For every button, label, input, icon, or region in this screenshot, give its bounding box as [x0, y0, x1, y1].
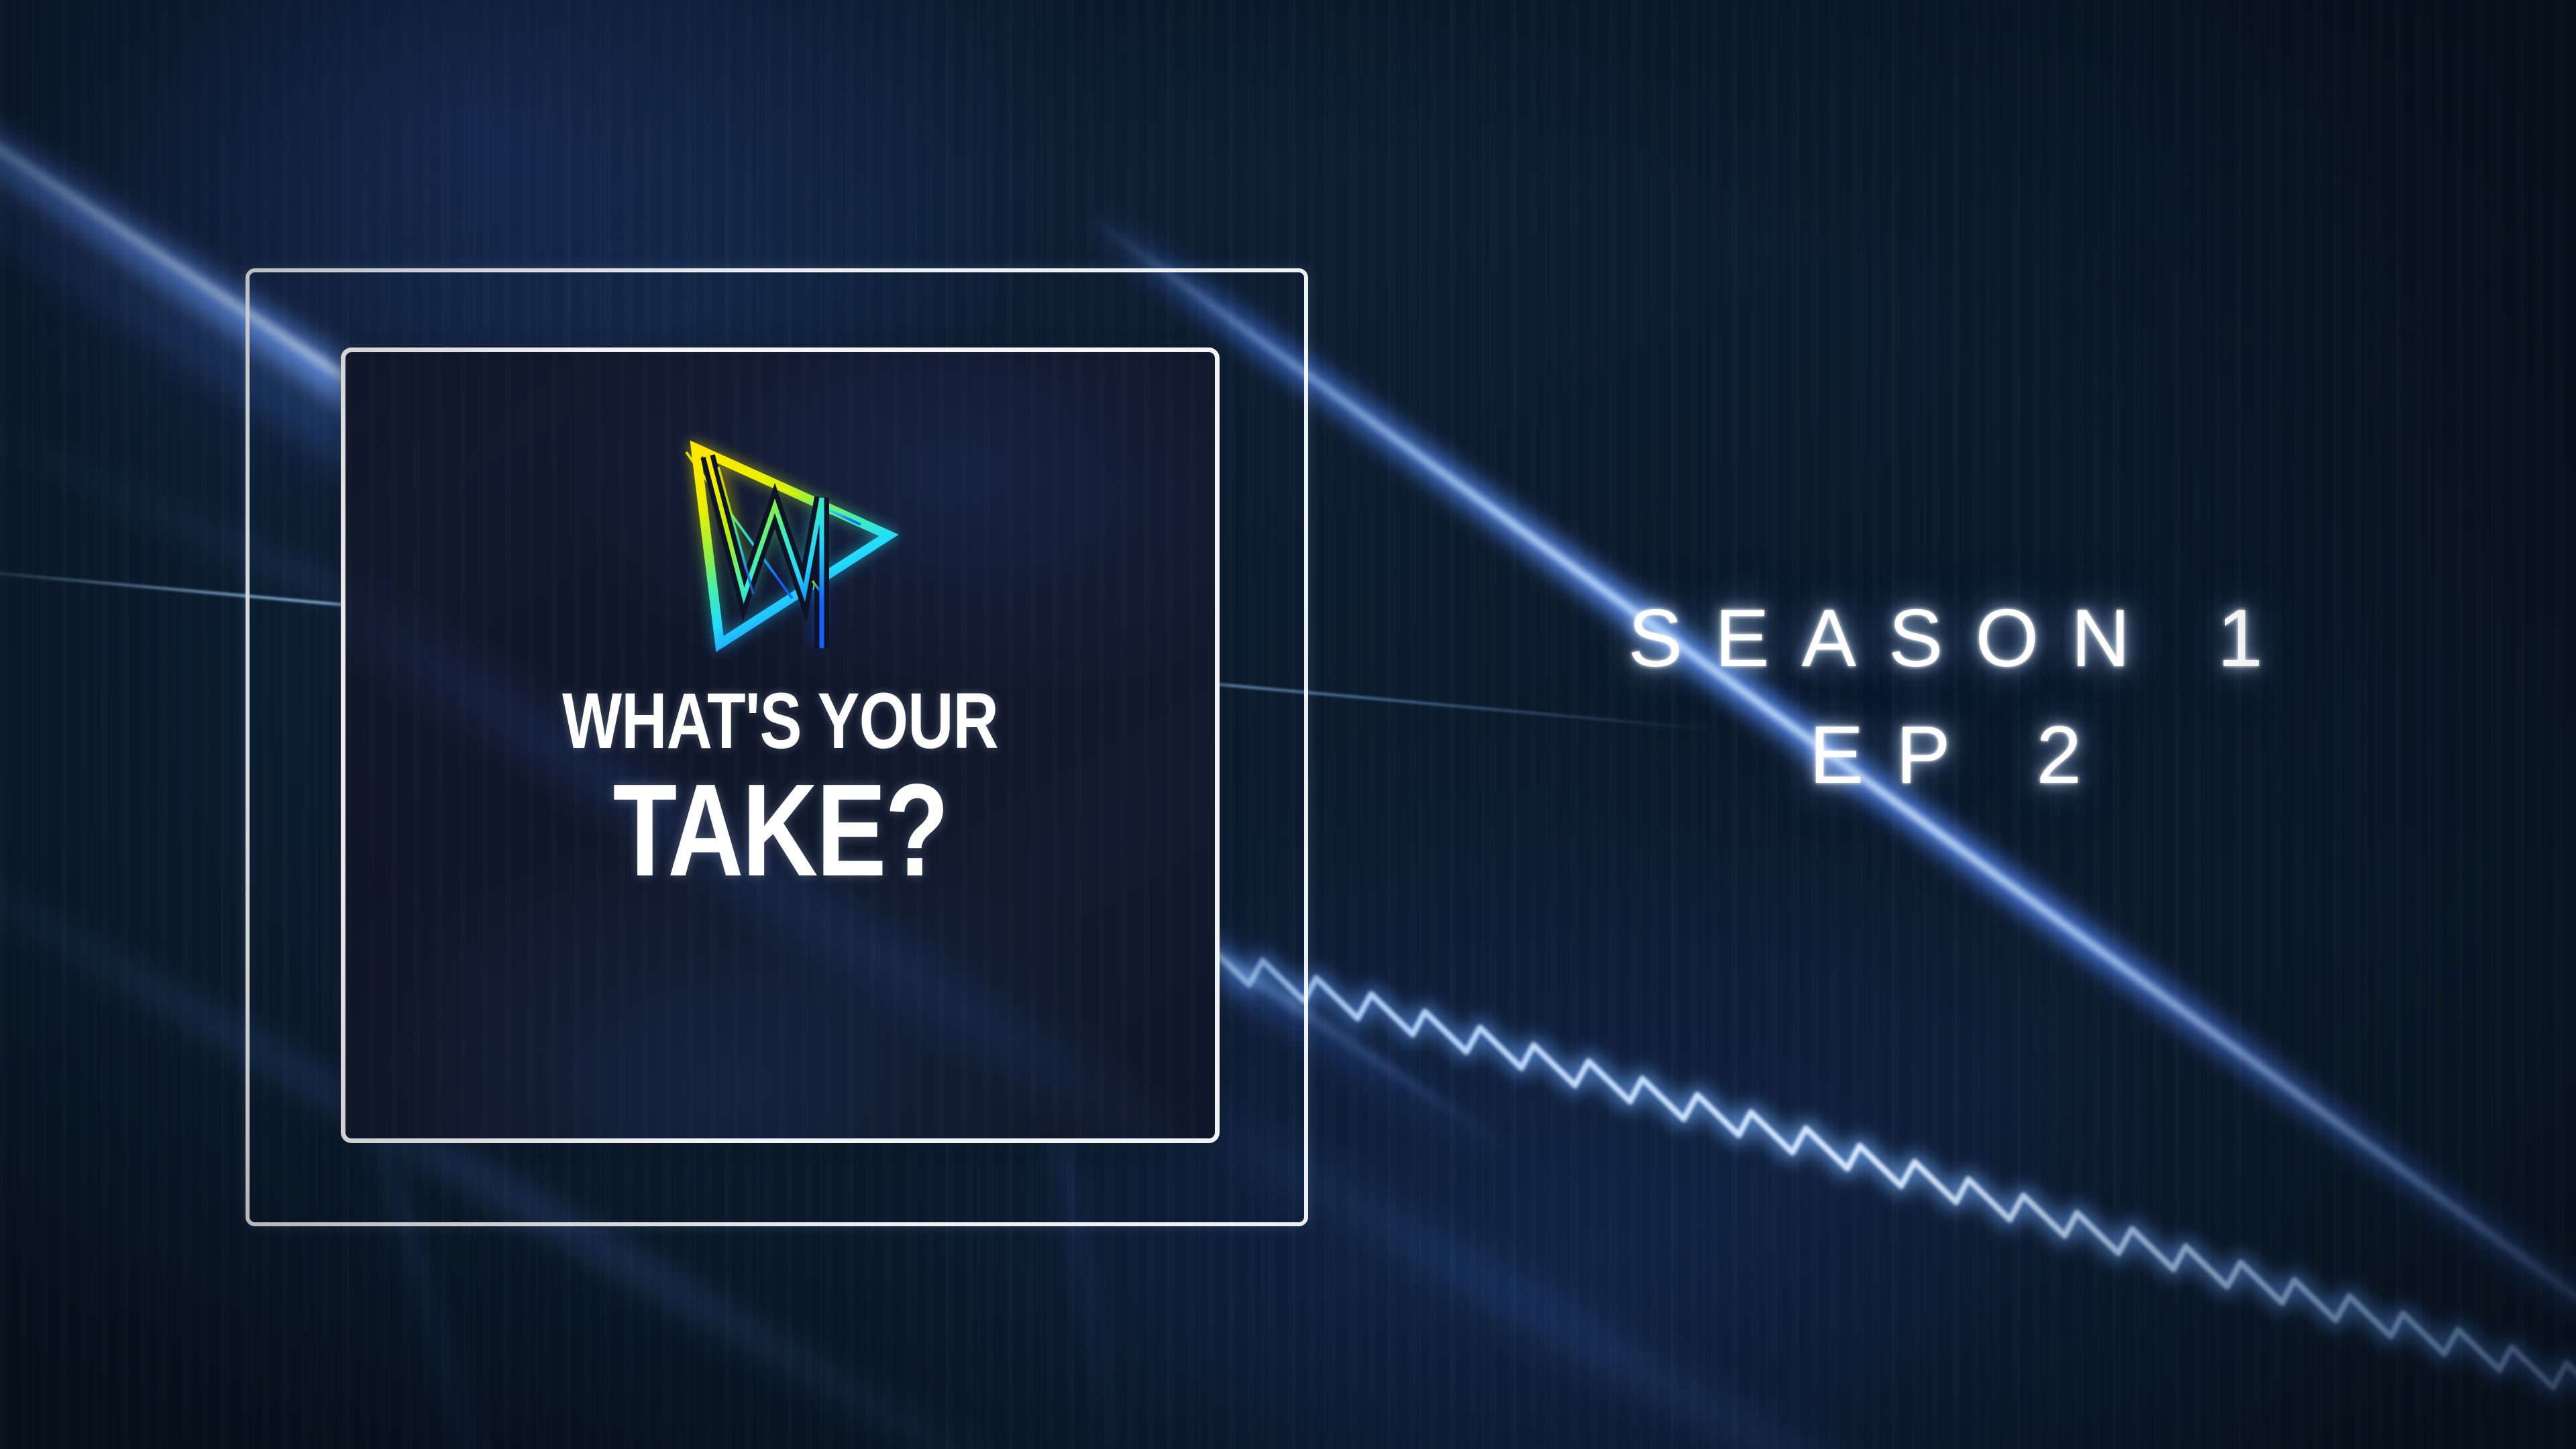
- episode-info-block: SEASON 1 EP 2: [1422, 590, 2469, 804]
- wordmark-line-1: WHAT'S YOUR: [429, 682, 1132, 761]
- title-card-stage: WHAT'S YOUR TAKE? SEASON 1 EP 2: [0, 0, 2576, 1449]
- wordmark-line-2: TAKE?: [429, 765, 1132, 896]
- episode-label: EP 2: [1422, 707, 2469, 804]
- w-play-triangle-logo: [661, 423, 929, 691]
- wordmark: WHAT'S YOUR TAKE?: [341, 682, 1220, 896]
- season-label: SEASON 1: [1422, 590, 2469, 687]
